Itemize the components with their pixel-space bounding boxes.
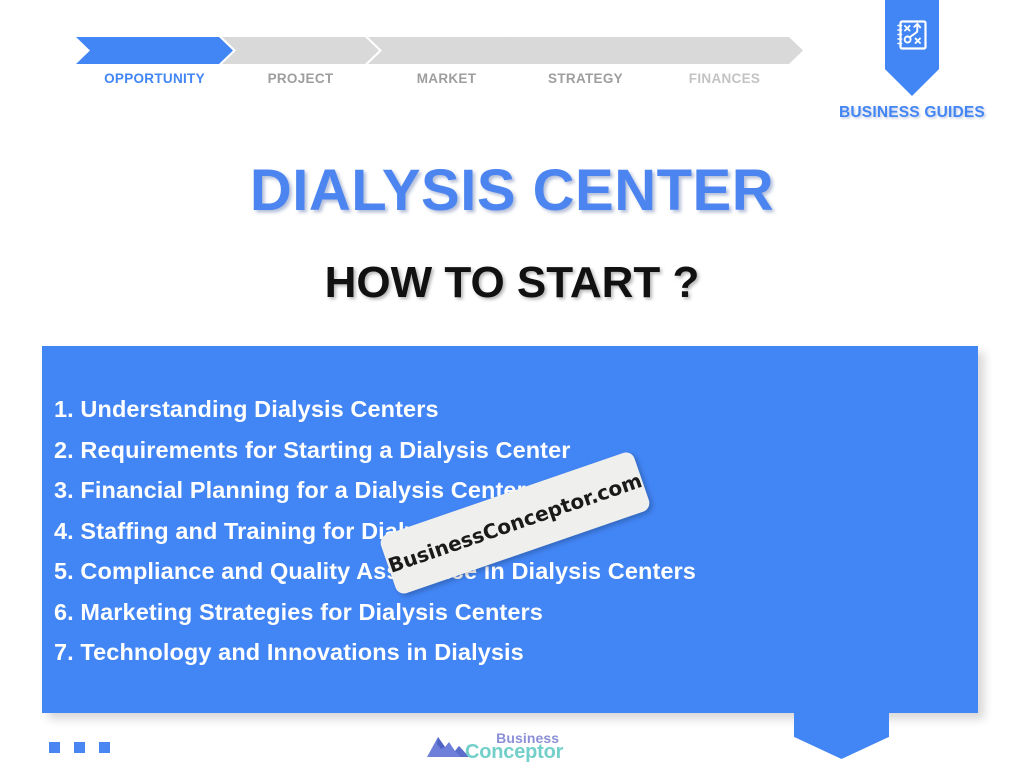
business-guides-logo[interactable]: BUSINESS GUIDES [828, 0, 996, 135]
footer-wordmark: Business Conceptor [465, 731, 563, 762]
stepper-arrow-shape [507, 37, 664, 64]
brand-caption: BUSINESS GUIDES [828, 104, 996, 122]
stepper-step-strategy[interactable]: STRATEGY [507, 37, 664, 64]
stepper-arrow-shape [368, 37, 525, 64]
page-title: DIALYSIS CENTER [0, 157, 1024, 224]
footer-brand-second: Conceptor [465, 742, 563, 762]
stepper-step-market[interactable]: MARKET [368, 37, 525, 64]
dot-indicator [49, 742, 60, 753]
stepper-step-finances[interactable]: FINANCES [646, 37, 803, 64]
stepper-label-market: MARKET [368, 71, 525, 86]
strategy-playbook-icon [895, 18, 929, 52]
stepper-step-opportunity[interactable]: OPPORTUNITY [76, 37, 233, 64]
stepper-label-strategy: STRATEGY [507, 71, 664, 86]
page-indicator-dots [49, 742, 110, 753]
stepper-arrow-shape [646, 37, 803, 64]
stepper-label-finances: FINANCES [646, 71, 803, 86]
progress-stepper: OPPORTUNITY PROJECT MARKET STRATEGY FINA… [76, 37, 806, 93]
bottom-banner-ribbon [794, 713, 889, 759]
stepper-step-project[interactable]: PROJECT [222, 37, 379, 64]
page-subtitle: HOW TO START ? [0, 258, 1024, 308]
business-conceptor-footer-logo[interactable]: Business Conceptor [425, 726, 575, 764]
list-item[interactable]: 1. Understanding Dialysis Centers [54, 389, 968, 430]
list-item[interactable]: 6. Marketing Strategies for Dialysis Cen… [54, 592, 968, 633]
list-item[interactable]: 7. Technology and Innovations in Dialysi… [54, 632, 968, 673]
stepper-label-project: PROJECT [222, 71, 379, 86]
stepper-arrow-shape [76, 37, 233, 64]
dot-indicator [74, 742, 85, 753]
list-item[interactable]: 2. Requirements for Starting a Dialysis … [54, 430, 968, 471]
stepper-arrow-shape [222, 37, 379, 64]
stepper-label-opportunity: OPPORTUNITY [76, 71, 233, 86]
dot-indicator [99, 742, 110, 753]
